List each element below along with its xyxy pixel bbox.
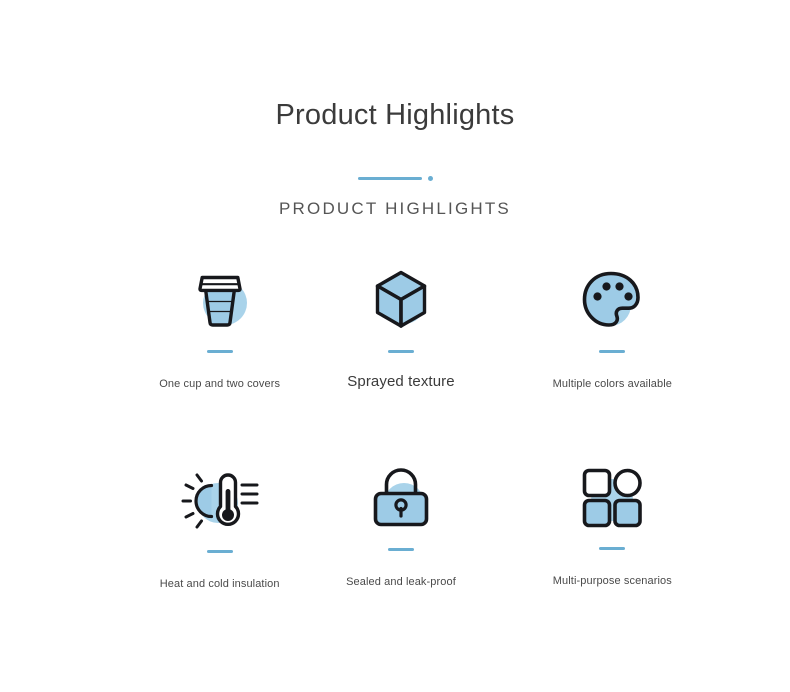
product-highlights-page: Product Highlights PRODUCT HIGHLIGHTS	[0, 0, 790, 692]
feature-item-multiple-colors-available: Multiple colors available	[501, 258, 724, 436]
isometric-box-icon	[359, 258, 443, 342]
feature-item-sealed-and-leak-proof: Sealed and leak-proof	[289, 456, 512, 634]
paint-palette-icon	[570, 258, 654, 342]
padlock-icon	[359, 456, 443, 540]
feature-item-multi-purpose-scenarios: Multi-purpose scenarios	[501, 455, 724, 633]
feature-grid: One cup and two covers Spraye	[60, 258, 730, 614]
feature-label: Sealed and leak-proof	[346, 575, 456, 590]
page-header: Product Highlights PRODUCT HIGHLIGHTS	[0, 0, 790, 220]
feature-accent-bar	[388, 548, 414, 551]
feature-label: Multi-purpose scenarios	[553, 574, 672, 589]
thermometer-sun-icon	[178, 458, 262, 542]
page-title: Product Highlights	[0, 0, 790, 134]
feature-accent-bar	[599, 547, 625, 550]
page-subtitle: PRODUCT HIGHLIGHTS	[0, 183, 790, 220]
feature-label: One cup and two covers	[159, 377, 280, 392]
feature-accent-bar	[207, 550, 233, 553]
title-divider	[0, 173, 790, 183]
feature-label: Sprayed texture	[347, 374, 454, 389]
divider-dot-icon	[428, 176, 433, 181]
feature-accent-bar	[599, 350, 625, 353]
divider-line-icon	[358, 177, 422, 180]
feature-label: Multiple colors available	[553, 377, 672, 392]
feature-accent-bar	[388, 350, 414, 353]
feature-label: Heat and cold insulation	[160, 577, 280, 592]
coffee-cup-icon	[178, 258, 262, 342]
feature-item-sprayed-texture: Sprayed texture	[289, 258, 512, 436]
feature-accent-bar	[207, 350, 233, 353]
grid-squares-icon	[570, 455, 654, 539]
